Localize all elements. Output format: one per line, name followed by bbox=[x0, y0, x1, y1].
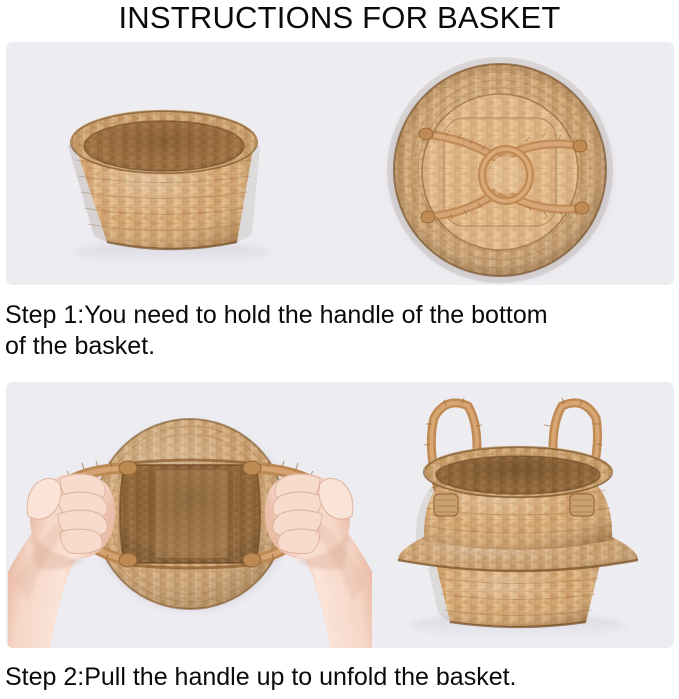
page-title: INSTRUCTIONS FOR BASKET bbox=[0, 0, 679, 38]
step-2-text: Step 2:Pull the handle up to unfold the … bbox=[5, 662, 677, 693]
step-2-illustrations bbox=[6, 382, 674, 648]
step-2-image-panel bbox=[6, 382, 674, 648]
basket-top-view-graphic bbox=[388, 64, 614, 282]
step-1-illustrations bbox=[6, 42, 674, 285]
step-1-image-panel bbox=[6, 42, 674, 285]
step-1-text: Step 1:You need to hold the handle of th… bbox=[5, 300, 677, 362]
instruction-sheet: INSTRUCTIONS FOR BASKET bbox=[0, 0, 679, 699]
